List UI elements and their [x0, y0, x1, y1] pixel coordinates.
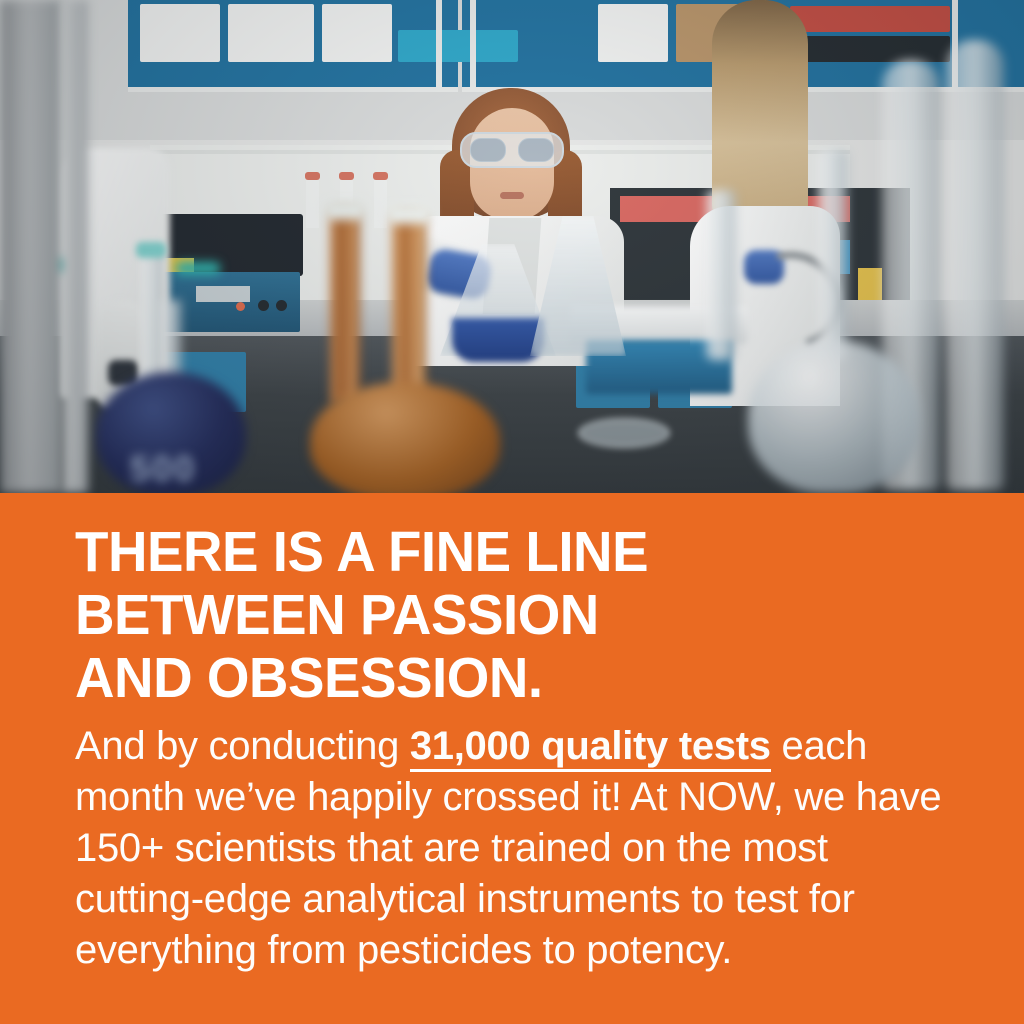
- body-text-before: And by conducting: [75, 724, 410, 768]
- headline: THERE IS A FINE LINE BETWEEN PASSION AND…: [75, 521, 939, 710]
- lab-photo: 500: [0, 0, 1024, 493]
- headline-line-1: THERE IS A FINE LINE: [75, 521, 939, 584]
- body-emphasis-stat: 31,000 quality tests: [410, 724, 771, 772]
- photo-vignette: [0, 0, 1024, 493]
- headline-line-3: AND OBSESSION.: [75, 647, 939, 710]
- headline-line-2: BETWEEN PASSION: [75, 584, 939, 647]
- social-poster: 500 THERE IS A FINE LINE BETWEEN PASSION…: [0, 0, 1024, 1024]
- body-paragraph: And by conducting 31,000 quality tests e…: [75, 721, 955, 976]
- orange-text-panel: THERE IS A FINE LINE BETWEEN PASSION AND…: [0, 493, 1024, 1024]
